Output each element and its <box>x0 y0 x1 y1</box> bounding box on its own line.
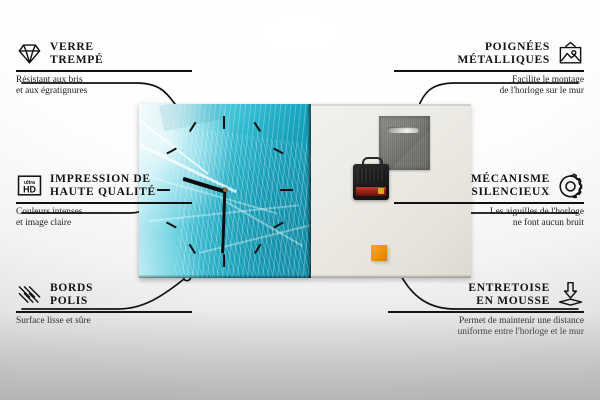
feature-description: Facilite le montage de l'horloge sur le … <box>384 75 584 98</box>
feature-description: Permet de maintenir une distance uniform… <box>384 316 584 339</box>
svg-text:HD: HD <box>23 184 36 194</box>
feature-entretoise-en-mousse: ENTRETOISE EN MOUSSE Permet de maintenir… <box>384 281 584 338</box>
feature-title: ENTRETOISE EN MOUSSE <box>468 282 550 307</box>
divider <box>16 70 192 72</box>
feature-bords-polis: BORDS POLIS Surface lisse et sûre <box>16 281 226 327</box>
polished-edges-icon <box>16 281 43 308</box>
feature-description: Couleurs intenses et image claire <box>16 207 226 230</box>
feature-description: Les aiguilles de l'horloge ne font aucun… <box>384 207 584 230</box>
hour-marker <box>223 116 225 129</box>
foam-spacer <box>371 245 387 261</box>
divider <box>394 70 584 72</box>
feature-title: VERRE TREMPÉ <box>50 41 103 66</box>
battery <box>356 187 386 196</box>
divider <box>16 202 192 204</box>
foam-spacer-icon <box>557 281 584 308</box>
feature-description: Résistant aux bris et aux égratignures <box>16 75 226 98</box>
hanger-loop <box>362 157 383 168</box>
hanger-slot <box>388 127 419 133</box>
feature-description: Surface lisse et sûre <box>16 316 226 327</box>
feature-verre-trempe: VERRE TREMPÉ Résistant aux bris et aux é… <box>16 40 226 97</box>
picture-hanger-icon <box>557 40 584 67</box>
feature-title: MÉCANISME SILENCIEUX <box>471 173 550 198</box>
infographic-canvas: VERRE TREMPÉ Résistant aux bris et aux é… <box>0 0 600 400</box>
divider <box>16 311 192 313</box>
feature-poignees-metalliques: POIGNÉES MÉTALLIQUES Facilite le montage… <box>384 40 584 97</box>
feature-title: POIGNÉES MÉTALLIQUES <box>458 41 550 66</box>
feature-title: IMPRESSION DE HAUTE QUALITÉ <box>50 173 156 198</box>
gear-icon <box>557 172 584 199</box>
ultra-hd-icon: ultra HD <box>16 172 43 199</box>
feature-mecanisme-silencieux: MÉCANISME SILENCIEUX Les aiguilles de l'… <box>384 172 584 229</box>
hour-marker <box>223 254 225 267</box>
diamond-icon <box>16 40 43 67</box>
feature-impression-haute-qualite: ultra HD IMPRESSION DE HAUTE QUALITÉ Cou… <box>16 172 226 229</box>
feature-title: BORDS POLIS <box>50 282 93 307</box>
divider <box>394 202 584 204</box>
divider <box>388 311 584 313</box>
metal-hanger-plate <box>379 116 430 170</box>
